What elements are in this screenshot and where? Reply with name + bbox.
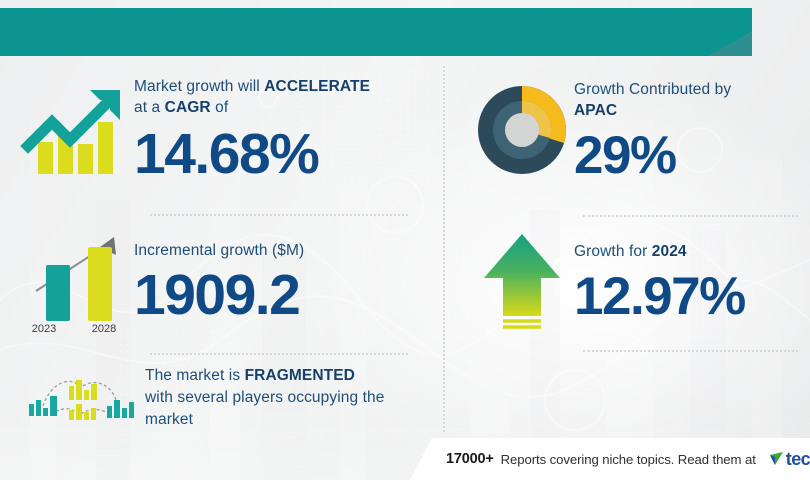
header-band	[0, 8, 752, 56]
donut-chart-icon	[474, 82, 570, 178]
stat-block-cagr: Market growth will ACCELERATE at a CAGR …	[14, 76, 434, 183]
up-arrow-icon	[481, 232, 563, 332]
footer-bar: 17000+ Reports covering niche topics. Re…	[410, 438, 810, 480]
donut-chart-icon-wrap	[470, 78, 574, 182]
cagr-caption-accelerate: ACCELERATE	[264, 78, 370, 95]
infographic-canvas: GLOBAL GIS MARKET IN TELECOM SECTOR 2024…	[0, 0, 810, 480]
fragmented-caption: The market is FRAGMENTED with several pl…	[145, 365, 439, 431]
cagr-caption-at-a: at a	[134, 99, 165, 116]
footer-tagline: Reports covering niche topics. Read them…	[501, 452, 756, 467]
cagr-value: 14.68%	[134, 126, 434, 183]
bar-year-labels: 2023 2028	[14, 323, 134, 335]
stat-block-apac: Growth Contributed by APAC 29%	[470, 78, 805, 182]
technavio-mark-icon	[769, 451, 784, 467]
growth2024-caption-prefix: Growth for	[574, 243, 652, 260]
incremental-body: Incremental growth ($M) 1909.2	[134, 240, 434, 324]
growth2024-body: Growth for 2024 12.97%	[574, 241, 805, 323]
bar-year-2023: 2023	[32, 323, 56, 335]
apac-caption: Growth Contributed by APAC	[574, 79, 805, 121]
stat-block-fragmented: The market is FRAGMENTED with several pl…	[14, 365, 439, 431]
cagr-body: Market growth will ACCELERATE at a CAGR …	[134, 76, 434, 183]
growth2024-caption-year: 2024	[652, 243, 687, 260]
bar-chart-growth-icon-wrap: 2023 2028	[14, 228, 134, 336]
growth-arrow-chart-icon-wrap	[14, 78, 134, 182]
cagr-caption-prefix: Market growth will	[134, 78, 264, 95]
divider-left-upper	[150, 214, 408, 216]
stat-block-incremental-growth: 2023 2028 Incremental growth ($M) 1909.2	[14, 228, 434, 336]
growth-arrow-chart-icon	[18, 80, 130, 180]
stat-block-growth-2024: Growth for 2024 12.97%	[470, 230, 805, 334]
divider-right-lower	[583, 350, 798, 352]
growth2024-value: 12.97%	[574, 270, 805, 323]
column-divider	[443, 66, 445, 432]
apac-caption-line1: Growth Contributed by	[574, 81, 731, 98]
fragmented-caption-line3: market	[145, 411, 193, 428]
apac-caption-region: APAC	[574, 102, 617, 119]
market-fragmentation-icon-wrap	[14, 369, 139, 427]
incremental-value: 1909.2	[134, 267, 434, 324]
header-banner	[0, 8, 752, 56]
fragmented-caption-bold: FRAGMENTED	[245, 367, 355, 384]
apac-value: 29%	[574, 129, 805, 182]
bar-chart-growth-icon	[18, 229, 130, 321]
fragmented-body: The market is FRAGMENTED with several pl…	[139, 365, 439, 431]
bar-year-2028: 2028	[92, 323, 116, 335]
up-arrow-icon-wrap	[470, 230, 574, 334]
apac-body: Growth Contributed by APAC 29%	[574, 79, 805, 182]
divider-right-upper	[583, 215, 798, 217]
technavio-logo[interactable]: technav	[769, 449, 810, 470]
brand-part-tech: tech	[786, 449, 810, 469]
incremental-caption: Incremental growth ($M)	[134, 240, 434, 261]
cagr-caption-of: of	[211, 99, 229, 116]
cagr-caption-cagr: CAGR	[165, 99, 211, 116]
cagr-caption: Market growth will ACCELERATE at a CAGR …	[134, 76, 434, 118]
growth2024-caption: Growth for 2024	[574, 241, 805, 262]
market-fragmentation-icon	[17, 370, 137, 426]
footer-content: 17000+ Reports covering niche topics. Re…	[410, 438, 810, 480]
fragmented-caption-prefix: The market is	[145, 367, 245, 384]
technavio-wordmark: technav	[786, 449, 810, 470]
fragmented-caption-line2: with several players occupying the	[145, 389, 384, 406]
footer-report-count: 17000+	[446, 451, 494, 467]
divider-left-lower	[150, 353, 408, 355]
